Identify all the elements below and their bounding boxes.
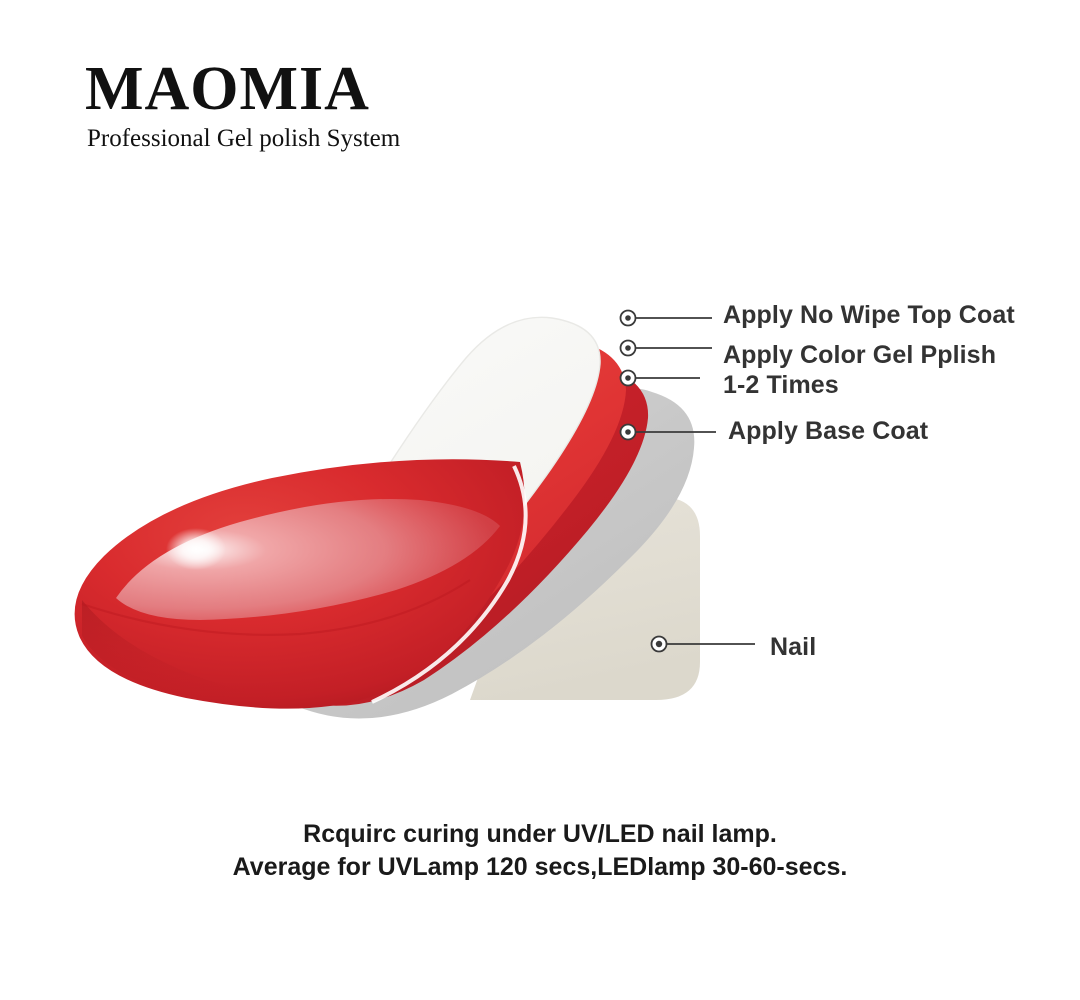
callout-label-times: 1-2 Times	[723, 373, 839, 398]
curing-instructions: Rcquirc curing under UV/LED nail lamp. A…	[0, 818, 1080, 884]
callout-marker-topcoat	[621, 311, 636, 326]
callout-marker-nail	[652, 637, 667, 652]
callout-label-color-gel: Apply Color Gel Pplish	[723, 343, 996, 368]
curing-instructions-line2: Average for UVLamp 120 secs,LEDlamp 30-6…	[0, 851, 1080, 884]
callout-label-top-coat: Apply No Wipe Top Coat	[723, 303, 1015, 328]
callout-label-nail: Nail	[770, 635, 816, 660]
callout-marker-basecoat	[621, 425, 636, 440]
callout-label-base-coat: Apply Base Coat	[728, 419, 928, 444]
callout-marker-colorgel	[621, 341, 636, 356]
product-instruction-page: MAOMIA Professional Gel polish System	[0, 0, 1080, 1000]
curing-instructions-line1: Rcquirc curing under UV/LED nail lamp.	[0, 818, 1080, 851]
callout-marker-times	[621, 371, 636, 386]
